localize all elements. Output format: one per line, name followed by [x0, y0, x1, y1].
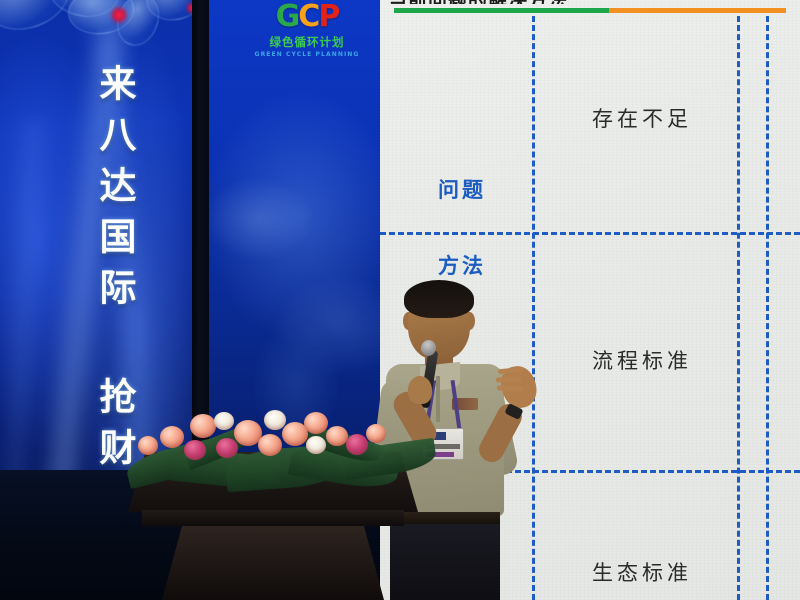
gcp-logo-letters: GCP — [247, 2, 367, 32]
grid-hline-1 — [380, 232, 800, 235]
rose — [306, 436, 326, 454]
gcp-letter-p: P — [318, 0, 338, 34]
gcp-logo-chinese: 绿色循环计划 — [247, 34, 367, 50]
floral-arrangement — [130, 398, 430, 488]
grid-vline-3 — [766, 16, 769, 600]
rose — [190, 414, 216, 438]
title-rule-green — [394, 8, 609, 13]
rose — [184, 440, 206, 460]
slide-label-problem: 问题 — [438, 174, 486, 204]
slide-label-deficiency: 存在不足 — [592, 103, 692, 133]
stage-photo: 来八达国际 抢财富先机 GCP 绿色循环计划 GREEN CYCLE PLANN… — [0, 0, 800, 600]
slide-label-process-standard: 流程标准 — [592, 345, 692, 375]
podium-body — [162, 526, 384, 600]
speaker-right-fingers — [504, 364, 540, 394]
grid-vline-2 — [737, 16, 740, 600]
slide-label-method: 方法 — [438, 250, 486, 280]
rose — [326, 426, 348, 446]
rose — [258, 434, 282, 456]
podium-band — [142, 510, 404, 526]
red-glow-accent — [110, 6, 128, 24]
finger — [496, 377, 522, 383]
slide-label-eco-standard: 生态标准 — [592, 557, 692, 587]
rose — [160, 426, 184, 448]
slide-title-rule — [394, 8, 786, 13]
rose — [216, 438, 238, 458]
title-rule-orange — [609, 8, 786, 13]
rose — [304, 412, 328, 434]
slide-title: 当前问题的解决方法 — [388, 0, 792, 4]
rose — [346, 434, 368, 455]
rose — [366, 424, 386, 443]
speaker-hair — [404, 280, 474, 318]
finger — [498, 367, 524, 375]
gcp-logo: GCP 绿色循环计划 GREEN CYCLE PLANNING — [247, 2, 367, 58]
rose — [138, 436, 158, 455]
rose — [214, 412, 234, 430]
gcp-logo-english: GREEN CYCLE PLANNING — [247, 51, 367, 58]
rose — [264, 410, 286, 430]
gcp-letter-c: C — [298, 0, 318, 34]
gcp-letter-g: G — [276, 0, 299, 34]
speaker-shirt-placket — [436, 376, 440, 422]
